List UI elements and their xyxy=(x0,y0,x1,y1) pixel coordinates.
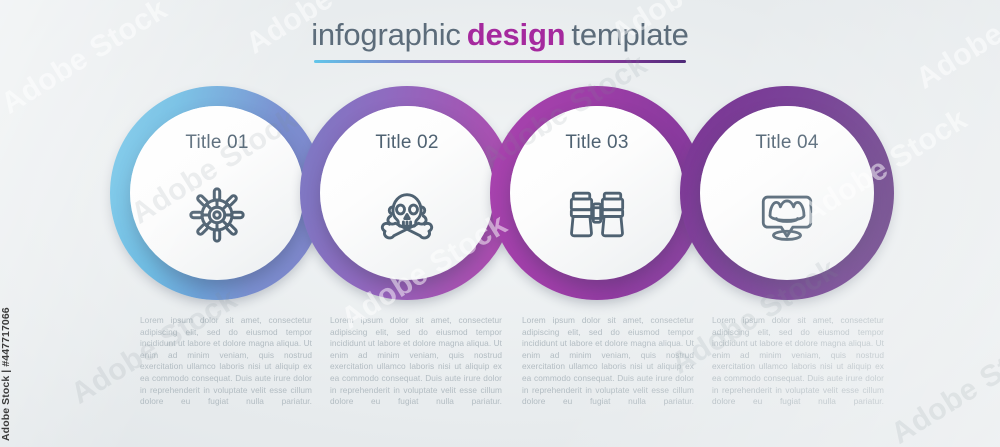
step-2-title: Title 02 xyxy=(320,132,494,154)
step-2-body-text: Lorem ipsum dolor sit amet, consectetur … xyxy=(330,315,502,419)
header: infographicdesigntemplate xyxy=(0,16,1000,63)
ship-wheel-icon xyxy=(186,184,248,246)
body-copy-row: Lorem ipsum dolor sit amet, consectetur … xyxy=(0,315,1000,425)
step-3: Title 03 xyxy=(490,86,704,300)
title-gradient-rule xyxy=(314,60,686,63)
page-title: infographicdesigntemplate xyxy=(0,16,1000,54)
title-word-template: template xyxy=(571,17,688,52)
title-word-infographic: infographic xyxy=(311,17,460,52)
pirate-hat-location-pin-icon xyxy=(756,184,818,246)
step-1: Title 01 xyxy=(110,86,324,300)
step-3-title: Title 03 xyxy=(510,132,684,154)
step-4-title: Title 04 xyxy=(700,132,874,154)
step-4-body-text: Lorem ipsum dolor sit amet, consectetur … xyxy=(712,315,884,419)
stock-credit-wrap: Adobe Stock | #447717066 xyxy=(13,0,33,447)
step-1-title: Title 01 xyxy=(130,132,304,154)
stock-credit-label: Adobe Stock | #447717066 xyxy=(0,307,12,441)
step-3-body-text: Lorem ipsum dolor sit amet, consectetur … xyxy=(522,315,694,419)
step-1-body-text: Lorem ipsum dolor sit amet, consectetur … xyxy=(140,315,312,419)
step-4: Title 04 xyxy=(680,86,894,300)
skull-crossbones-icon xyxy=(376,184,438,246)
step-2-disc[interactable]: Title 02 xyxy=(320,106,494,280)
step-4-disc[interactable]: Title 04 xyxy=(700,106,874,280)
step-2: Title 02 xyxy=(300,86,514,300)
step-3-disc[interactable]: Title 03 xyxy=(510,106,684,280)
step-1-disc[interactable]: Title 01 xyxy=(130,106,304,280)
binoculars-icon xyxy=(566,184,628,246)
title-word-design: design xyxy=(467,17,566,52)
infographic-canvas: infographicdesigntemplate Title 01 xyxy=(0,0,1000,447)
